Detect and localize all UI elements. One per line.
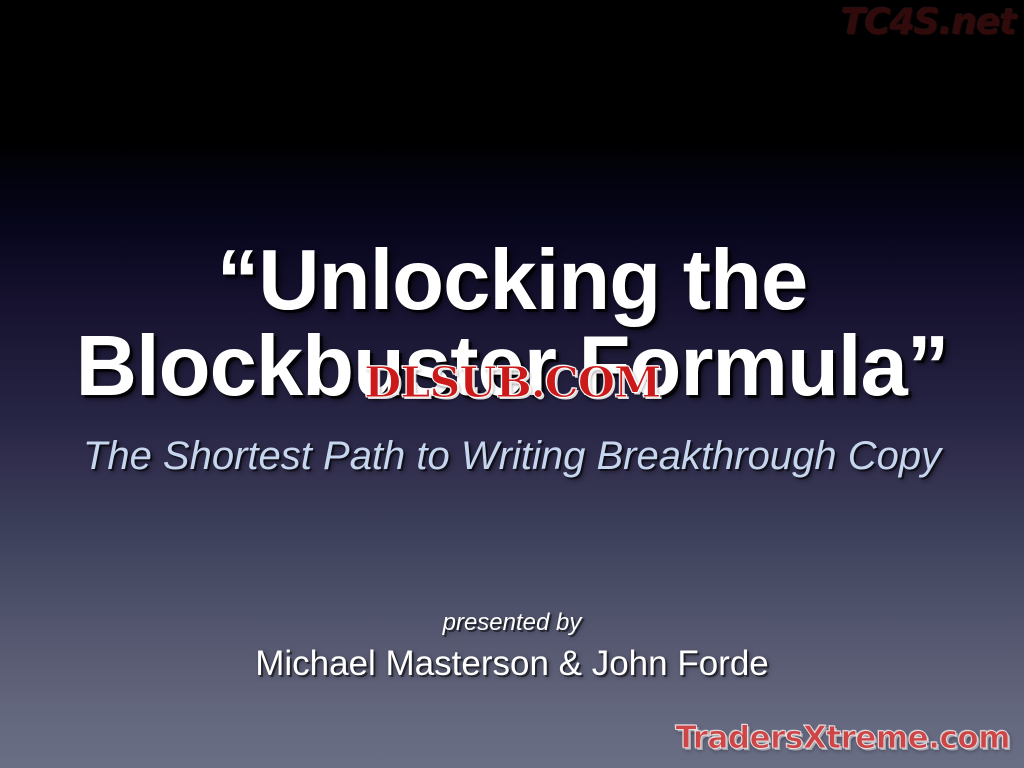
watermark-tc4s-net: TC4S.net [841, 2, 1016, 43]
presentation-slide: TC4S.net “Unlocking the Blockbuster Form… [0, 0, 1024, 768]
watermark-tradersxtreme-com: TradersXtreme.com [675, 720, 1010, 756]
title-line-1: “Unlocking the [0, 238, 1024, 324]
presented-by-label: presented by [0, 608, 1024, 638]
title-line-2: Blockbuster Formula” [0, 324, 1024, 410]
presenter-block: presented by Michael Masterson & John Fo… [0, 608, 1024, 684]
slide-subtitle: The Shortest Path to Writing Breakthroug… [0, 434, 1024, 478]
slide-title: “Unlocking the Blockbuster Formula” [0, 238, 1024, 410]
presenter-names: Michael Masterson & John Forde [0, 644, 1024, 684]
